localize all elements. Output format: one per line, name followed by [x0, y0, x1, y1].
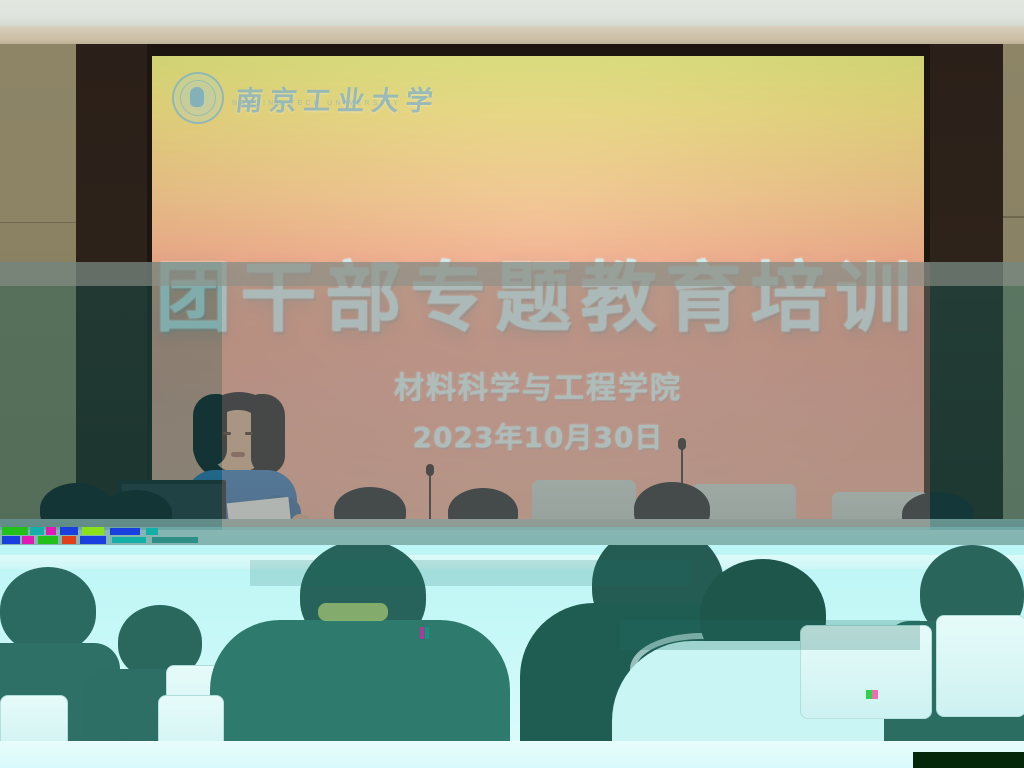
presenter-mouth — [231, 452, 245, 457]
university-seal-icon — [172, 72, 224, 124]
slide-title: 团干部专题教育培训 — [152, 236, 924, 346]
audience-chair — [800, 625, 932, 719]
audience-area — [0, 545, 1024, 768]
microphone-stand — [429, 470, 431, 526]
presenter-hair-right — [251, 394, 285, 474]
screenshot-root: 南京工业大学 NANJING TECH UNIVERSITY 团干部专题教育培训… — [0, 0, 1024, 768]
wall-panel-left-lower — [0, 222, 76, 527]
microphone-head — [678, 438, 686, 450]
audience-head — [0, 567, 96, 653]
wall-column-right — [929, 44, 1007, 529]
slide-logo: 南京工业大学 — [172, 72, 440, 124]
logo-institution-en: NANJING TECH UNIVERSITY — [232, 100, 401, 107]
artifact-dark-corner — [913, 752, 1024, 768]
wall-panel-right — [1003, 44, 1024, 529]
wall-column-left — [76, 44, 147, 529]
audience-chair — [936, 615, 1024, 717]
front-desk — [0, 741, 1024, 768]
microphone-head — [426, 464, 434, 476]
audience-collar — [318, 603, 388, 621]
desk-row — [0, 555, 1024, 569]
logo-institution-cn: 南京工业大学 — [234, 79, 442, 118]
presenter-eye-right — [245, 432, 253, 435]
presenter-eye-left — [223, 432, 231, 435]
wall-panel-right-seam — [1003, 216, 1024, 218]
artifact-pixel-pink — [872, 690, 878, 699]
artifact-pixel-magenta — [420, 627, 424, 639]
artifact-pixel-teal — [425, 627, 429, 639]
presenter-hair-left — [193, 394, 227, 466]
